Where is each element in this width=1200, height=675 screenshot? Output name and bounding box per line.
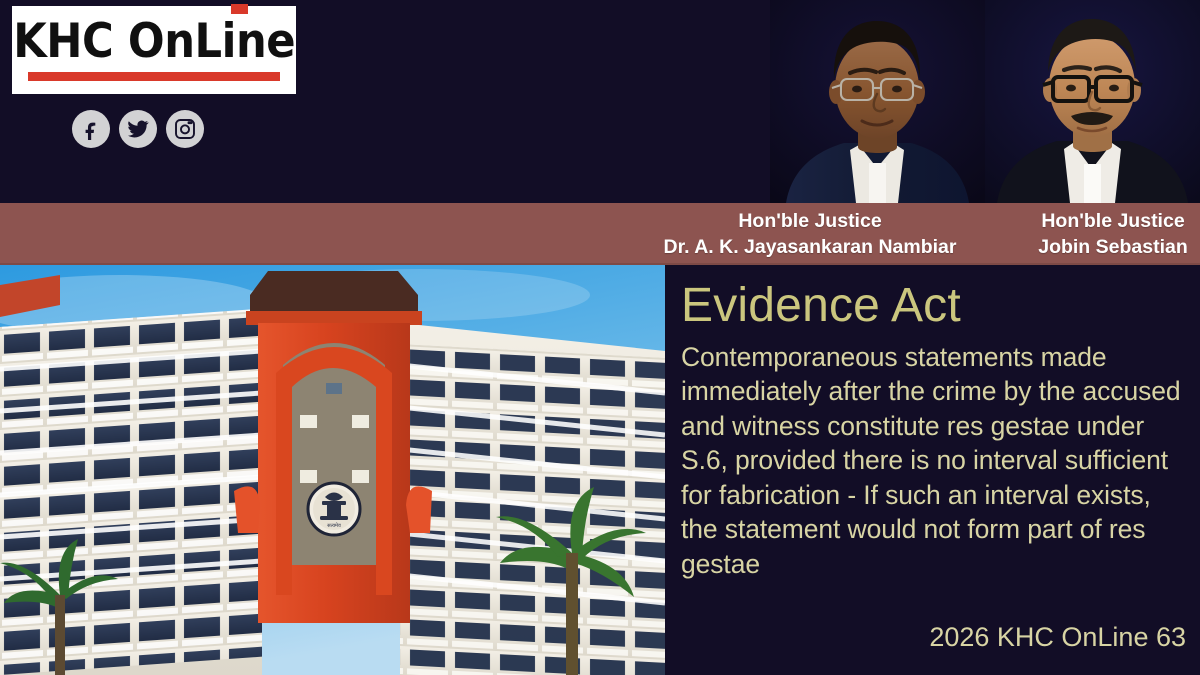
judge-1-name: Dr. A. K. Jayasankaran Nambiar [600, 234, 1020, 260]
brand-logo[interactable]: KHC OnLine [12, 6, 296, 94]
twitter-icon[interactable] [119, 110, 157, 148]
judge-name-1: Hon'ble Justice Dr. A. K. Jayasankaran N… [600, 208, 1020, 260]
brand-logo-text: KHC OnLine [13, 18, 295, 65]
judges-name-band: Hon'ble Justice Dr. A. K. Jayasankaran N… [0, 203, 1200, 265]
judge-photo-1 [770, 0, 985, 203]
act-headline: Evidence Act [681, 281, 1188, 332]
news-card: KHC OnLine [0, 0, 1200, 675]
logo-accent-dot [231, 4, 248, 14]
high-court-building-photo: सत्यमेव HIGH COURT OF KERALA കേരള ഹൈക്കോ… [0, 265, 665, 675]
judge-2-honorific: Hon'ble Justice [1018, 208, 1200, 234]
card-header: KHC OnLine [0, 0, 1200, 203]
citation-label: 2026 KHC OnLine 63 [929, 622, 1186, 653]
judge-2-name: Jobin Sebastian [1018, 234, 1200, 260]
facebook-icon[interactable] [72, 110, 110, 148]
social-links [72, 110, 204, 148]
judge-name-2: Hon'ble Justice Jobin Sebastian [1018, 208, 1200, 260]
instagram-icon[interactable] [166, 110, 204, 148]
summary-panel: Evidence Act Contemporaneous statements … [665, 265, 1200, 675]
judge-1-honorific: Hon'ble Justice [600, 208, 1020, 234]
svg-text:सत्यमेव: सत्यमेव [327, 522, 341, 529]
judgment-summary: Contemporaneous statements made immediat… [681, 340, 1188, 581]
logo-underline-rule [28, 72, 280, 81]
judge-photo-2 [985, 0, 1200, 203]
